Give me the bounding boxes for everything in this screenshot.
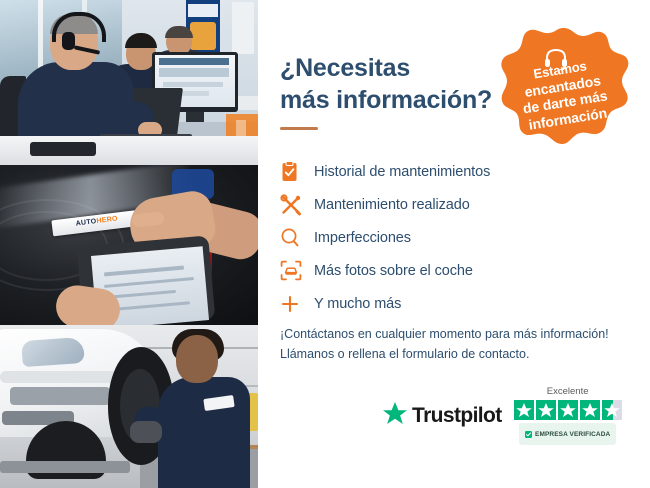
trustpilot-widget[interactable]: Trustpilot Excelente (382, 386, 634, 445)
rating-label: Excelente (547, 386, 589, 397)
trustpilot-wordmark: Trustpilot (412, 404, 502, 428)
paragraph-line-2: Llámanos o rellena el formulario de cont… (280, 344, 640, 364)
trustpilot-logo[interactable]: Trustpilot (382, 401, 502, 431)
star-filled (558, 400, 578, 420)
page-title: ¿Necesitas más información? (280, 52, 520, 116)
photo-strip: AUTOHERO (0, 0, 258, 488)
headline-line-2: más información? (280, 84, 520, 116)
monitor-screen-row (159, 68, 229, 77)
ruler-brand-auto: AUTO (75, 218, 97, 227)
trustpilot-rating: Excelente (514, 386, 622, 445)
feature-label: Imperfecciones (314, 230, 411, 246)
call-center-agents-photo (0, 0, 258, 165)
blue-panel-top (188, 4, 218, 17)
trustpilot-star-icon (382, 401, 408, 431)
car-grille (10, 387, 110, 405)
blue-panel-image (190, 22, 216, 50)
star-filled (514, 400, 534, 420)
title-divider (280, 127, 318, 130)
car-lift-arm (0, 461, 130, 473)
star-filled (580, 400, 600, 420)
mechanic-wheel-photo (0, 325, 258, 488)
headline-line-1: ¿Necesitas (280, 52, 520, 84)
feature-label: Mantenimiento realizado (314, 197, 470, 213)
car-bumper (0, 371, 124, 383)
tools-icon (280, 194, 314, 216)
verified-label: EMPRESA VERIFICADA (535, 431, 610, 438)
mechanic-head (176, 335, 218, 383)
feature-item-maintenance-done: Mantenimiento realizado (280, 188, 630, 221)
mechanic-glove (130, 421, 162, 443)
feature-item-more-photos: Más fotos sobre el coche (280, 254, 630, 287)
wall-poster (232, 2, 254, 54)
star-filled (536, 400, 556, 420)
headset-earcup (62, 32, 75, 50)
monitor-screen-row (163, 82, 223, 87)
car-scan-icon (280, 260, 314, 281)
verified-check-icon (525, 425, 532, 443)
magnifier-icon (280, 227, 314, 248)
feature-label: Historial de mantenimientos (314, 164, 490, 180)
clipboard-check-icon (280, 161, 314, 183)
car-inspection-ruler-photo: AUTOHERO (0, 165, 258, 325)
contact-paragraph: ¡Contáctanos en cualquier momento para m… (280, 324, 640, 364)
verified-business-badge: EMPRESA VERIFICADA (519, 423, 616, 445)
monitor-stand (186, 112, 204, 122)
monitor-screen-row (159, 58, 229, 65)
feature-item-imperfections: Imperfecciones (280, 221, 630, 254)
star-rating (514, 400, 622, 420)
info-banner: AUTOHERO (0, 0, 650, 488)
car-headlight (21, 337, 85, 367)
plus-icon (280, 294, 314, 314)
star-partial (602, 400, 622, 420)
feature-list: Historial de mantenimientos Mantenimient… (280, 155, 630, 320)
feature-label: Más fotos sobre el coche (314, 263, 473, 279)
desk-tablet (30, 142, 96, 156)
feature-label: Y mucho más (314, 296, 401, 312)
promo-badge: Estamos encantados de darte más informac… (496, 24, 632, 160)
feature-item-much-more: Y mucho más (280, 287, 630, 320)
ruler-brand-hero: HERO (96, 215, 118, 225)
paragraph-line-1: ¡Contáctanos en cualquier momento para m… (280, 324, 640, 344)
